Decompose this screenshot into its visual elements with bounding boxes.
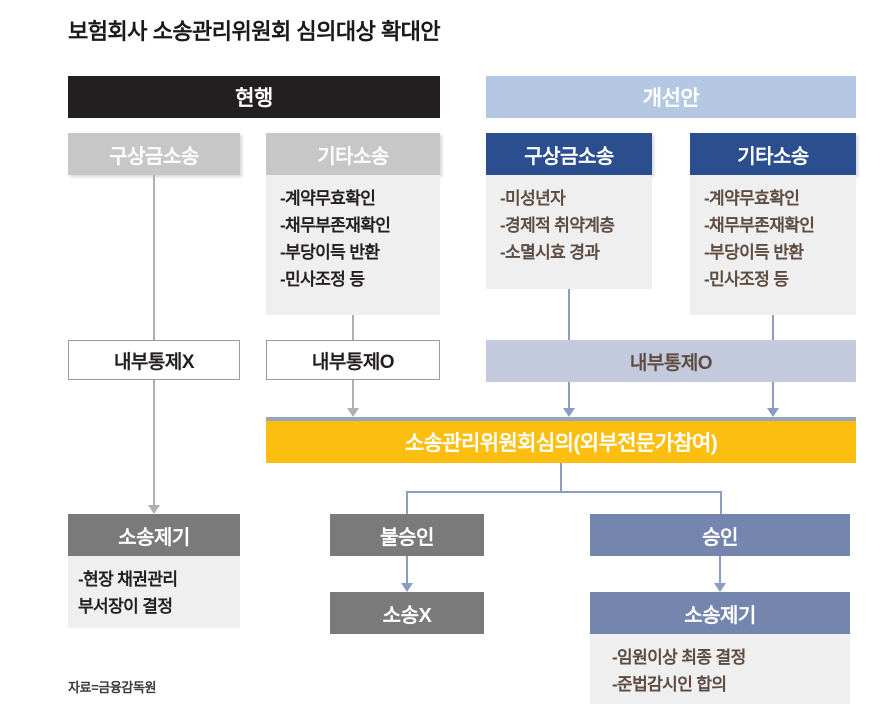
list-item: -부당이득 반환 [280,239,440,266]
connector-improved-left [568,289,570,340]
source-note: 자료=금융감독원 [68,677,156,696]
outcome-approved-caption: 승인 [590,514,850,556]
list-item: -채무부존재확인 [280,212,440,239]
list-item: -임원이상 최종 결정 [612,644,850,671]
arrowhead-control-left [563,408,575,417]
arrowhead-current-right [347,408,359,417]
current-left-outcome-list: -현장 채권관리 부서장이 결정 [68,556,240,628]
committee-bar: 소송관리위원회심의(외부전문가참여) [266,417,856,463]
current-left-caption: 구상금소송 [68,133,240,175]
current-left-outcome-caption: 소송제기 [68,514,240,556]
connector-control-to-committee-right [772,382,774,410]
outcome-approved-result-caption: 소송제기 [590,592,850,634]
diagram-canvas: 보험회사 소송관리위원회 심의대상 확대안 현행 개선안 구상금소송 내부통제X… [0,0,881,707]
list-item: -경제적 취약계층 [500,212,652,239]
list-item: -준법감시인 합의 [612,671,850,698]
list-item: -미성년자 [500,185,652,212]
current-right-caption: 기타소송 [266,133,440,175]
connector-committee-stem [560,463,562,493]
outcome-rejected-result: 소송X [330,592,484,634]
connector-committee-to-rejected [406,491,408,514]
header-improved: 개선안 [486,76,856,118]
outcome-approved-result-list: -임원이상 최종 결정 -준법감시인 합의 [590,634,850,704]
list-item: 부서장이 결정 [78,593,240,620]
connector-current-right-1 [352,315,354,340]
current-right-control: 내부통제O [266,340,440,380]
connector-approved [719,556,721,585]
list-item: -부당이득 반환 [704,239,856,266]
arrowhead-control-right [767,408,779,417]
connector-committee-split [406,491,722,493]
list-item: -계약무효확인 [704,185,856,212]
connector-rejected [406,556,408,585]
page-title: 보험회사 소송관리위원회 심의대상 확대안 [68,14,440,46]
improved-left-caption: 구상금소송 [486,133,652,175]
improved-control: 내부통제O [486,340,856,382]
connector-improved-right [772,315,774,340]
connector-current-left-1 [153,175,155,340]
arrowhead-current-left [148,505,160,514]
list-item: -현장 채권관리 [78,566,240,593]
current-left-control: 내부통제X [68,340,240,380]
list-item: -민사조정 등 [280,266,440,293]
improved-right-caption: 기타소송 [690,133,856,175]
list-item: -채무부존재확인 [704,212,856,239]
outcome-rejected-caption: 불승인 [330,514,484,556]
connector-committee-to-approved [720,491,722,514]
connector-current-right-2 [352,380,354,410]
list-item: -계약무효확인 [280,185,440,212]
header-current: 현행 [68,76,440,118]
connector-control-to-committee-left [568,382,570,410]
improved-left-list: -미성년자 -경제적 취약계층 -소멸시효 경과 [486,175,652,289]
improved-right-list: -계약무효확인 -채무부존재확인 -부당이득 반환 -민사조정 등 [690,175,856,315]
arrowhead-rejected [401,583,413,592]
connector-current-left-2 [153,380,155,507]
list-item: -소멸시효 경과 [500,239,652,266]
list-item: -민사조정 등 [704,266,856,293]
arrowhead-approved [714,583,726,592]
current-right-list: -계약무효확인 -채무부존재확인 -부당이득 반환 -민사조정 등 [266,175,440,315]
